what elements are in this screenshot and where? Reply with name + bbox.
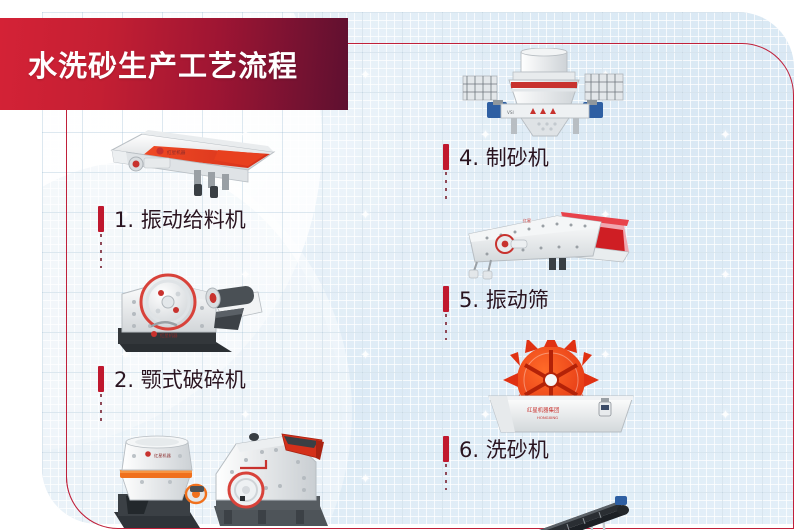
step-label: 6. 洗砂机 bbox=[443, 434, 703, 464]
infographic-root: ✦ ✦ ✦ ✦ ✦ ✦ ✦ ✦ ✦ ✦ ✦ ✦ ✦ ✦ ✦ ✦ ✦ ✦ ✦ ✦ … bbox=[0, 0, 800, 530]
cone-and-impact-crusher-image: 红星机器 bbox=[98, 426, 358, 530]
step-connector-dashed bbox=[445, 314, 447, 340]
svg-text:VSI: VSI bbox=[507, 110, 514, 115]
svg-text:红星机器: 红星机器 bbox=[160, 332, 178, 339]
step-marker bbox=[443, 436, 449, 462]
step-connector-dashed bbox=[445, 464, 447, 490]
right-column: VSI 4. 制砂机 bbox=[443, 48, 703, 530]
belt-conveyor-image bbox=[443, 490, 703, 530]
left-column: 红星机器 1. 振动给料机 bbox=[98, 110, 358, 530]
page-title: 水洗砂生产工艺流程 bbox=[28, 43, 298, 85]
step-item[interactable]: 红星机器 2. 颚式破碎机 bbox=[98, 268, 358, 426]
step-label: 5. 振动筛 bbox=[443, 284, 703, 314]
vibrating-feeder-icon: 红星机器 bbox=[98, 110, 298, 202]
svg-text:红星机器集团: 红星机器集团 bbox=[527, 406, 559, 414]
step-marker bbox=[443, 286, 449, 312]
step-connector-dashed bbox=[100, 234, 102, 268]
belt-conveyor-icon bbox=[479, 490, 649, 530]
svg-text:HONGXING: HONGXING bbox=[537, 415, 558, 420]
jaw-crusher-image: 红星机器 bbox=[98, 268, 358, 362]
step-text: 1. 振动给料机 bbox=[114, 204, 246, 234]
title-banner: 水洗砂生产工艺流程 bbox=[0, 18, 348, 110]
svg-text:红星机器: 红星机器 bbox=[167, 149, 186, 156]
step-item[interactable]: VSI 4. 制砂机 bbox=[443, 48, 703, 200]
step-connector-dashed bbox=[445, 172, 447, 200]
step-text: 2. 颚式破碎机 bbox=[114, 364, 246, 394]
page-margin-top bbox=[0, 0, 800, 12]
jaw-crusher-icon: 红星机器 bbox=[112, 268, 312, 368]
step-item[interactable]: 红星 5. 振动筛 bbox=[443, 200, 703, 340]
step-marker bbox=[443, 144, 449, 170]
step-connector-dashed bbox=[100, 394, 102, 426]
step-marker bbox=[98, 206, 104, 232]
sand-maker-image: VSI bbox=[443, 48, 703, 140]
cone-and-impact-crusher-icon: 红星机器 bbox=[104, 426, 344, 530]
step-text: 5. 振动筛 bbox=[459, 284, 549, 314]
svg-text:红星机器: 红星机器 bbox=[154, 452, 172, 459]
step-text: 4. 制砂机 bbox=[459, 142, 549, 172]
step-item[interactable]: 红星机器 bbox=[98, 426, 358, 530]
step-marker bbox=[98, 366, 104, 392]
step-item[interactable]: 7. 输送机 bbox=[443, 490, 703, 530]
vibrating-feeder-image: 红星机器 bbox=[98, 110, 358, 202]
vibrating-screen-icon: 红星 bbox=[461, 200, 651, 284]
sand-washer-icon: 红星机器集团 HONGXING bbox=[481, 340, 641, 434]
step-label: 2. 颚式破碎机 bbox=[98, 364, 358, 394]
vibrating-screen-image: 红星 bbox=[443, 200, 703, 282]
step-text: 6. 洗砂机 bbox=[459, 434, 549, 464]
step-label: 4. 制砂机 bbox=[443, 142, 703, 172]
step-item[interactable]: 红星机器集团 HONGXING 6. 洗砂机 bbox=[443, 340, 703, 490]
step-label: 1. 振动给料机 bbox=[98, 204, 358, 234]
step-item[interactable]: 红星机器 1. 振动给料机 bbox=[98, 110, 358, 268]
sand-maker-icon: VSI bbox=[457, 48, 637, 140]
svg-text:红星: 红星 bbox=[523, 217, 531, 223]
sand-washer-image: 红星机器集团 HONGXING bbox=[443, 340, 703, 432]
